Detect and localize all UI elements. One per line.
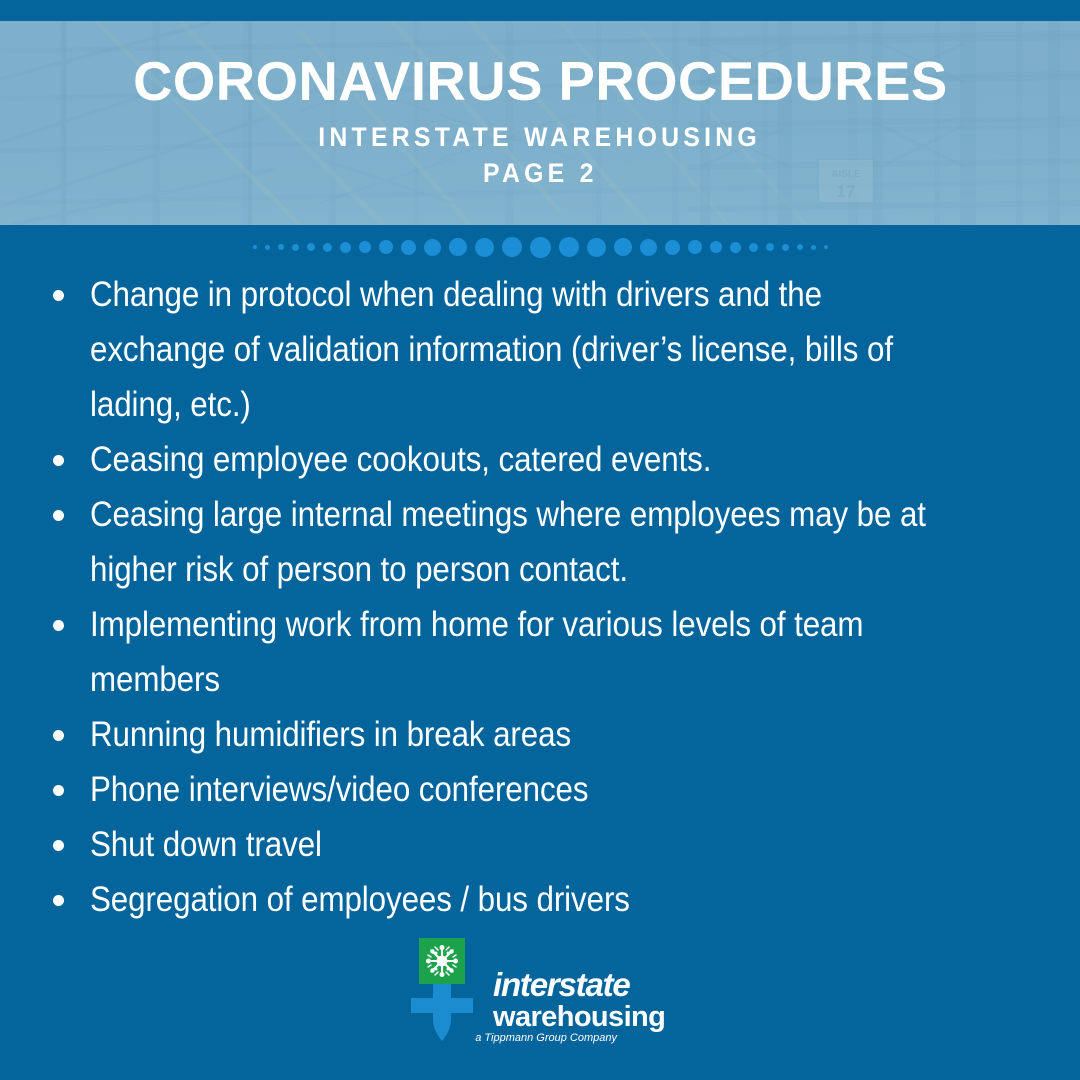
divider-dot-28 bbox=[824, 245, 828, 249]
divider-dot-10 bbox=[424, 239, 441, 256]
procedure-item-text: Ceasing employee cookouts, catered event… bbox=[90, 432, 711, 487]
procedure-item-text: Running humidifiers in break areas bbox=[90, 707, 571, 762]
divider-dot-8 bbox=[379, 240, 393, 254]
procedure-item: Implementing work from home for various … bbox=[42, 597, 1042, 707]
divider-dot-20 bbox=[688, 240, 702, 254]
page-title: CORONAVIRUS PROCEDURES bbox=[133, 51, 948, 111]
procedure-item: Ceasing large internal meetings where em… bbox=[42, 487, 1042, 597]
divider-dot-26 bbox=[797, 244, 803, 250]
divider-dot-17 bbox=[614, 238, 632, 256]
page-subtitle: INTERSTATE WAREHOUSING bbox=[319, 121, 762, 154]
divider-dot-2 bbox=[278, 244, 284, 250]
divider-dot-4 bbox=[307, 243, 315, 251]
procedure-item: Shut down travel bbox=[42, 817, 1042, 872]
divider-dot-9 bbox=[401, 240, 416, 255]
company-logo: interstate warehousing a Tippmann Group … bbox=[0, 938, 1080, 1053]
procedure-item-text: Phone interviews/video conferences bbox=[90, 762, 588, 817]
divider-dot-16 bbox=[587, 238, 606, 257]
logo-tagline: a Tippmann Group Company bbox=[475, 1032, 618, 1044]
divider-dot-23 bbox=[749, 243, 758, 252]
bullet-dot-icon bbox=[53, 840, 64, 851]
divider-dot-1 bbox=[265, 245, 270, 250]
divider-dot-6 bbox=[340, 242, 351, 253]
divider-dot-12 bbox=[475, 238, 494, 257]
divider-dot-14 bbox=[530, 237, 551, 258]
procedure-item-text: Implementing work from home for various … bbox=[90, 597, 942, 707]
bullet-dot-icon bbox=[53, 895, 64, 906]
procedure-item: Ceasing employee cookouts, catered event… bbox=[42, 432, 1042, 487]
procedure-item: Running humidifiers in break areas bbox=[42, 707, 1042, 762]
bullet-dot-icon bbox=[53, 620, 64, 631]
divider-dot-18 bbox=[640, 239, 657, 256]
bullet-dot-icon bbox=[53, 730, 64, 741]
dotted-divider bbox=[0, 236, 1080, 258]
bullet-dot-icon bbox=[53, 510, 64, 521]
interstate-interchange-mark-icon bbox=[411, 984, 473, 1041]
procedure-item: Segregation of employees / bus drivers bbox=[42, 872, 1042, 927]
bullet-dot-icon bbox=[53, 290, 64, 301]
bullet-dot-icon bbox=[53, 455, 64, 466]
divider-dot-13 bbox=[502, 237, 522, 257]
divider-dot-11 bbox=[449, 238, 467, 256]
divider-dot-22 bbox=[730, 242, 741, 253]
divider-dot-19 bbox=[665, 240, 680, 255]
divider-dot-5 bbox=[323, 243, 332, 252]
bullet-dot-icon bbox=[53, 785, 64, 796]
divider-dot-27 bbox=[811, 245, 816, 250]
top-accent-bar bbox=[0, 0, 1080, 21]
procedure-item-text: Change in protocol when dealing with dri… bbox=[90, 267, 942, 432]
divider-dot-25 bbox=[782, 244, 789, 251]
header-band: AISLE 17 CORONAVIRUS PROCEDURES INTERSTA… bbox=[0, 21, 1080, 225]
poster: AISLE 17 CORONAVIRUS PROCEDURES INTERSTA… bbox=[0, 0, 1080, 1080]
divider-dot-3 bbox=[292, 244, 299, 251]
snowflake-icon bbox=[419, 938, 465, 984]
procedure-item-text: Ceasing large internal meetings where em… bbox=[90, 487, 942, 597]
procedures-list: Change in protocol when dealing with dri… bbox=[42, 267, 1042, 927]
divider-dot-24 bbox=[766, 243, 774, 251]
procedure-item: Change in protocol when dealing with dri… bbox=[42, 267, 1042, 432]
divider-dot-0 bbox=[253, 245, 257, 249]
procedure-item-text: Segregation of employees / bus drivers bbox=[90, 872, 630, 927]
divider-dot-15 bbox=[559, 237, 579, 257]
logo-wordmark-line2: warehousing bbox=[492, 1001, 665, 1033]
divider-dot-7 bbox=[359, 241, 371, 253]
logo-wordmark-line1: interstate bbox=[493, 966, 630, 1003]
divider-dot-21 bbox=[710, 241, 722, 253]
procedure-item-text: Shut down travel bbox=[90, 817, 322, 872]
page-number-label: PAGE 2 bbox=[483, 157, 598, 190]
procedure-item: Phone interviews/video conferences bbox=[42, 762, 1042, 817]
